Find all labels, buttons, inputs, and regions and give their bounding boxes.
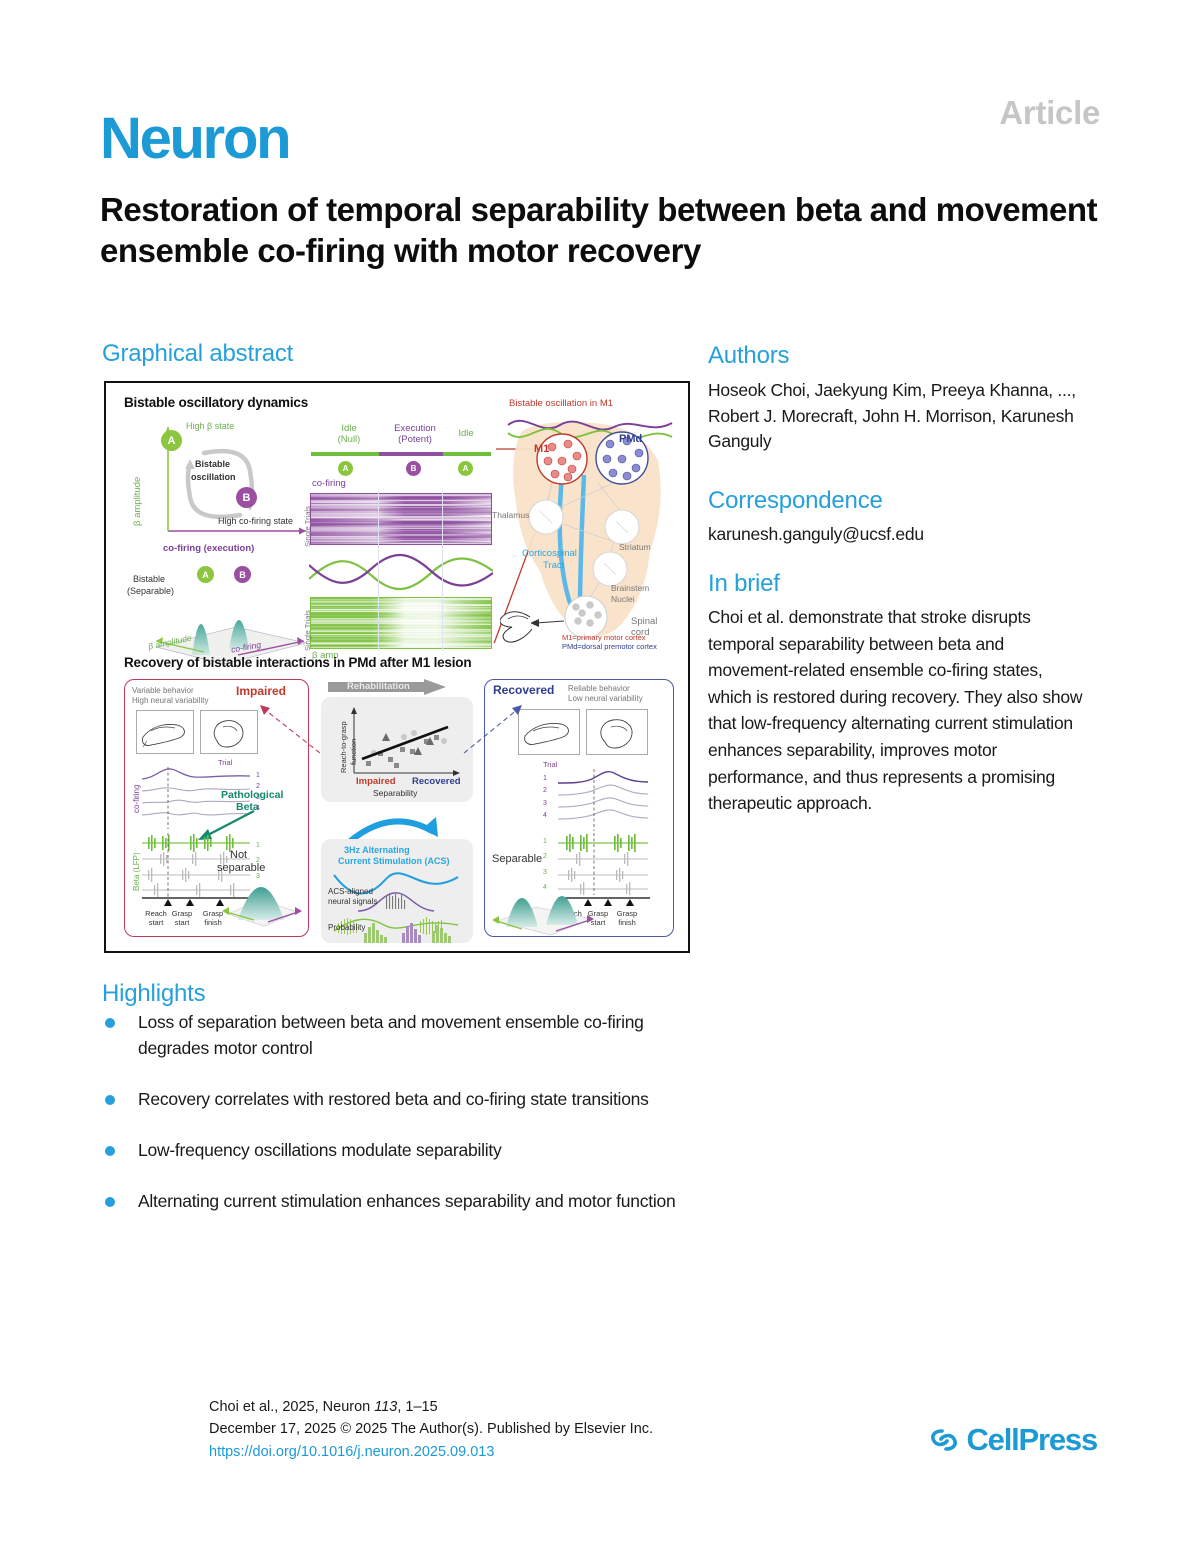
phase-bar (311, 452, 491, 458)
publisher-line: December 17, 2025 © 2025 The Author(s). … (209, 1418, 909, 1440)
oscillation-traces (309, 549, 493, 595)
rehab-y-axis-2: function (350, 739, 359, 765)
pathological-beta-annotation-1: Pathological (221, 789, 283, 801)
highlights-list: Loss of separation between beta and move… (102, 1010, 702, 1239)
recovered-event-3: Grasp finish (610, 910, 644, 927)
list-item: Loss of separation between beta and move… (102, 1010, 702, 1062)
brain-brainstem-label-2: Nuclei (611, 595, 635, 605)
phase-idle-2: Idle (446, 429, 486, 440)
list-item: Recovery correlates with restored beta a… (102, 1087, 702, 1113)
highlights-heading: Highlights (102, 980, 205, 1008)
acs-label-2: neural signals (328, 897, 377, 906)
impaired-hand-box-2 (200, 710, 258, 754)
bullet-icon (105, 1146, 115, 1156)
rehab-y-axis-1: Reach-to-grasp (340, 721, 349, 773)
brain-thalamus-label: Thalamus (492, 511, 529, 521)
state-a-circle: A (161, 430, 182, 451)
impaired-beta-axis-label: Beta (LFP) (132, 852, 141, 891)
raster-trials-label-bottom: Single Trials (304, 610, 313, 651)
acs-probability-histogram (362, 921, 472, 943)
impaired-unimodal-surface (216, 856, 304, 932)
doi-link[interactable]: https://doi.org/10.1016/j.neuron.2025.09… (209, 1441, 909, 1463)
in-brief-heading: In brief (708, 570, 780, 598)
raster-marker-b: B (406, 461, 421, 476)
recovered-bimodal-surface (490, 867, 600, 939)
recovered-dashed-connector (458, 699, 528, 755)
beta-raster (310, 597, 492, 649)
impaired-title: Impaired (236, 685, 286, 699)
bistable-oscillation-label-2: oscillation (191, 472, 236, 482)
journal-cover-page: Article Neuron Restoration of temporal s… (0, 0, 1200, 1557)
phase-execution-line2: (Potent) (382, 435, 448, 446)
impaired-event-2: Grasp start (166, 910, 198, 927)
acs-title-2: Current Stimulation (ACS) (338, 856, 450, 866)
journal-logo: Neuron (100, 110, 289, 168)
citation-prefix: Choi et al., 2025, Neuron (209, 1399, 374, 1415)
bistable-surface-label-1: Bistable (133, 574, 165, 584)
phase-idle-1-line2: (Null) (318, 435, 380, 446)
bistable-surface-label-2: (Separable) (127, 586, 174, 596)
recovered-title: Recovered (493, 684, 554, 698)
cofiring-raster (310, 493, 492, 545)
phase-divider-1 (378, 491, 379, 651)
footer-citation: Choi et al., 2025, Neuron 113, 1–15 Dece… (209, 1396, 909, 1463)
recovered-trial-label: Trial (543, 761, 557, 770)
bistable-oscillation-label-1: Bistable (195, 459, 230, 469)
highlight-text: Low-frequency oscillations modulate sepa… (138, 1140, 501, 1160)
rehab-x-right-label: Recovered (412, 777, 461, 788)
article-type-label: Article (999, 94, 1100, 132)
in-brief-text: Choi et al. demonstrate that stroke disr… (708, 604, 1090, 817)
raster-marker-a2: A (458, 461, 473, 476)
bullet-icon (105, 1197, 115, 1207)
raster-trials-label-top: Single Trials (304, 506, 313, 547)
rehab-x-left-label: Impaired (356, 777, 396, 788)
graphical-abstract-figure: Bistable oscillatory dynamics A B High β… (104, 381, 690, 953)
recovered-trial-numbers: 1234 (543, 773, 547, 822)
corticospinal-tract-label-1: Corticospinal (522, 549, 577, 560)
state-space-x-axis-label: co-firing (execution) (163, 544, 254, 555)
highlight-text: Loss of separation between beta and move… (138, 1012, 644, 1058)
cellpress-mark-icon (929, 1426, 959, 1454)
recovered-cofiring-traces (558, 769, 650, 831)
figure-top-section-title: Bistable oscillatory dynamics (124, 395, 308, 410)
state-space-y-axis-label: β amplitude (133, 477, 144, 526)
recovered-caption-2: Low neural variability (568, 694, 643, 703)
recovered-caption-1: Reliable behavior (568, 684, 630, 693)
figure-bottom-section-title: Recovery of bistable interactions in PMd… (124, 655, 471, 670)
highlight-text: Recovery correlates with restored beta a… (138, 1089, 649, 1109)
cellpress-logo: CellPress (929, 1422, 1097, 1458)
brain-legend-pmd: PMd=dorsal premotor cortex (562, 643, 657, 652)
recovered-hand-box-2 (586, 709, 648, 755)
authors-list: Hoseok Choi, Jaekyung Kim, Preeya Khanna… (708, 378, 1088, 455)
raster-marker-a1: A (338, 461, 353, 476)
correspondence-email[interactable]: karunesh.ganguly@ucsf.edu (708, 522, 1088, 547)
impaired-cofiring-axis-label: co-firing (132, 785, 141, 813)
citation-pages: , 1–15 (397, 1399, 437, 1415)
brain-pmd-label: PMd (619, 433, 642, 446)
brain-brainstem-label-1: Brainstem (611, 584, 649, 594)
rehab-x-axis-label: Separability (373, 789, 417, 799)
acs-probability-label: Probability (328, 923, 365, 932)
page-title: Restoration of temporal separability bet… (100, 190, 1100, 272)
recovered-verdict: Separable (492, 853, 542, 866)
authors-heading: Authors (708, 342, 789, 370)
high-cofiring-state-label: High co-firing state (218, 516, 293, 526)
bullet-icon (105, 1018, 115, 1028)
impaired-hand-box-1 (136, 710, 194, 754)
correspondence-heading: Correspondence (708, 487, 883, 515)
corticospinal-tract-label-2: Tract (543, 561, 564, 572)
brain-diagram-title: Bistable oscillation in M1 (509, 399, 613, 410)
list-item: Alternating current stimulation enhances… (102, 1189, 702, 1215)
brain-striatum-label: Striatum (619, 543, 651, 553)
acs-title-1: 3Hz Alternating (344, 845, 410, 855)
brain-m1-label: M1 (534, 443, 549, 456)
impaired-caption-2: High neural variability (132, 696, 208, 705)
graphical-abstract-heading: Graphical abstract (102, 340, 293, 368)
surface-peak-b: B (234, 566, 251, 583)
high-beta-state-label: High β state (186, 421, 234, 431)
rehabilitation-label: Rehabilitation (347, 682, 410, 693)
cellpress-wordmark: CellPress (966, 1422, 1097, 1458)
citation-volume: 113 (374, 1399, 397, 1415)
highlight-text: Alternating current stimulation enhances… (138, 1191, 675, 1211)
bullet-icon (105, 1095, 115, 1105)
state-b-circle: B (236, 487, 257, 508)
phase-divider-2 (442, 491, 443, 651)
brain-circuit-diagram (500, 411, 690, 661)
impaired-dashed-connector (256, 699, 326, 755)
impaired-caption-1: Variable behavior (132, 686, 194, 695)
surface-peak-a: A (197, 566, 214, 583)
citation-line: Choi et al., 2025, Neuron 113, 1–15 (209, 1396, 909, 1418)
list-item: Low-frequency oscillations modulate sepa… (102, 1138, 702, 1164)
raster-cofiring-label: co-firing (312, 479, 346, 490)
acs-label-1: ACS-aligned (328, 887, 373, 896)
